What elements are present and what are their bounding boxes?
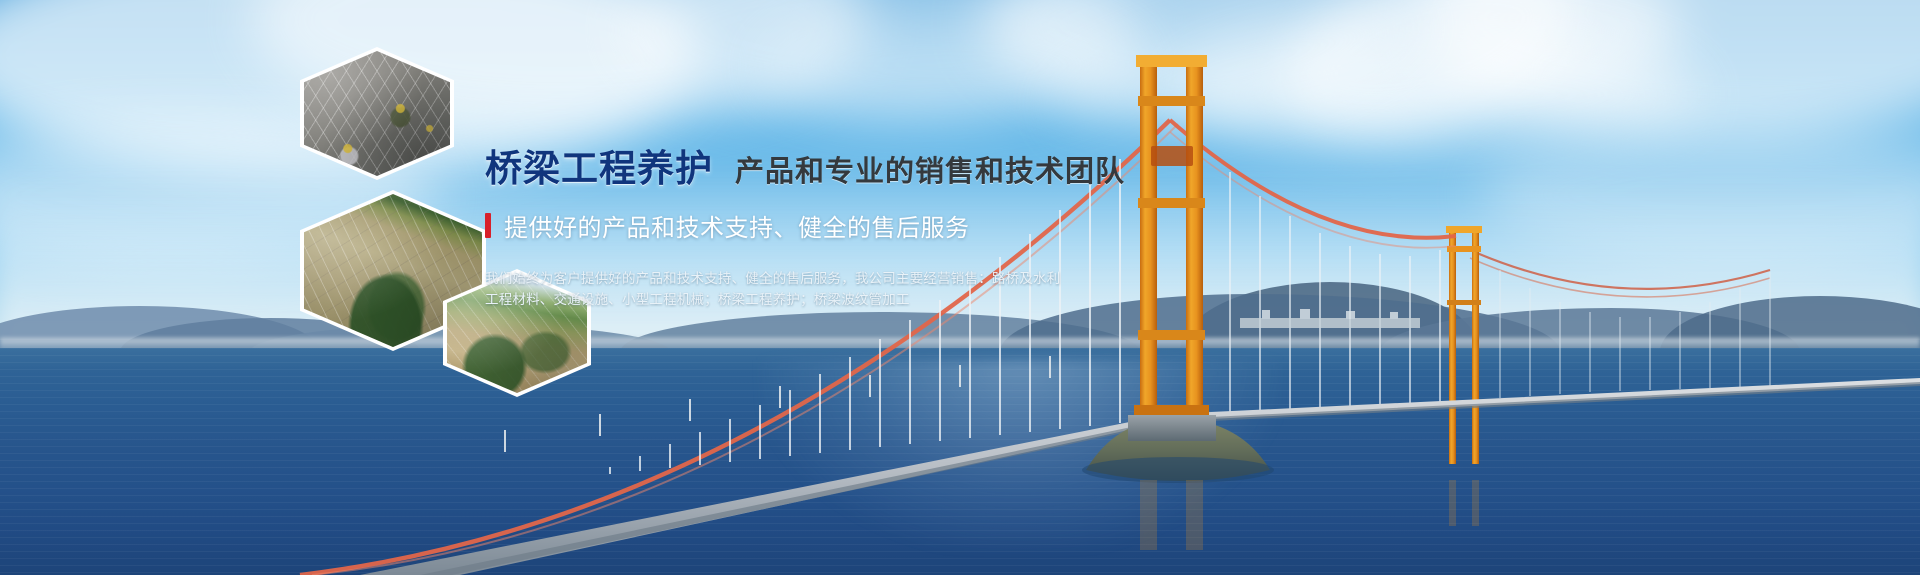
headline-main: 桥梁工程养护 <box>485 150 713 187</box>
accent-bar-icon <box>485 213 491 238</box>
bridge-reflection <box>1140 480 1479 550</box>
tower-pier <box>1128 415 1216 441</box>
subheadline-row: 提供好的产品和技术支持、健全的售后服务 <box>485 208 1245 243</box>
body-paragraph: 我们始终为客户提供好的产品和技术支持、健全的售后服务，我公司主要经营销售：路桥及… <box>485 268 1245 310</box>
photo-hex-1[interactable] <box>300 47 454 180</box>
bridge-tower-far <box>1446 226 1482 464</box>
headline-secondary: 产品和专业的销售和技术团队 <box>735 158 1125 187</box>
hero-banner: 桥梁工程养护 产品和专业的销售和技术团队 提供好的产品和技术支持、健全的售后服务… <box>0 0 1920 575</box>
body-line-2: 工程材料、交通设施、小型工程机械；桥梁工程养护；桥梁波纹管加工 <box>485 289 1245 310</box>
body-line-1: 我们始终为客户提供好的产品和技术支持、健全的售后服务，我公司主要经营销售：路桥及… <box>485 268 1245 289</box>
rockfall-netting-crew-image <box>304 51 450 176</box>
subheadline-text: 提供好的产品和技术支持、健全的售后服务 <box>504 208 970 243</box>
headline-row: 桥梁工程养护 产品和专业的销售和技术团队 <box>485 150 1245 187</box>
banner-copy: 桥梁工程养护 产品和专业的销售和技术团队 提供好的产品和技术支持、健全的售后服务… <box>485 150 1245 310</box>
